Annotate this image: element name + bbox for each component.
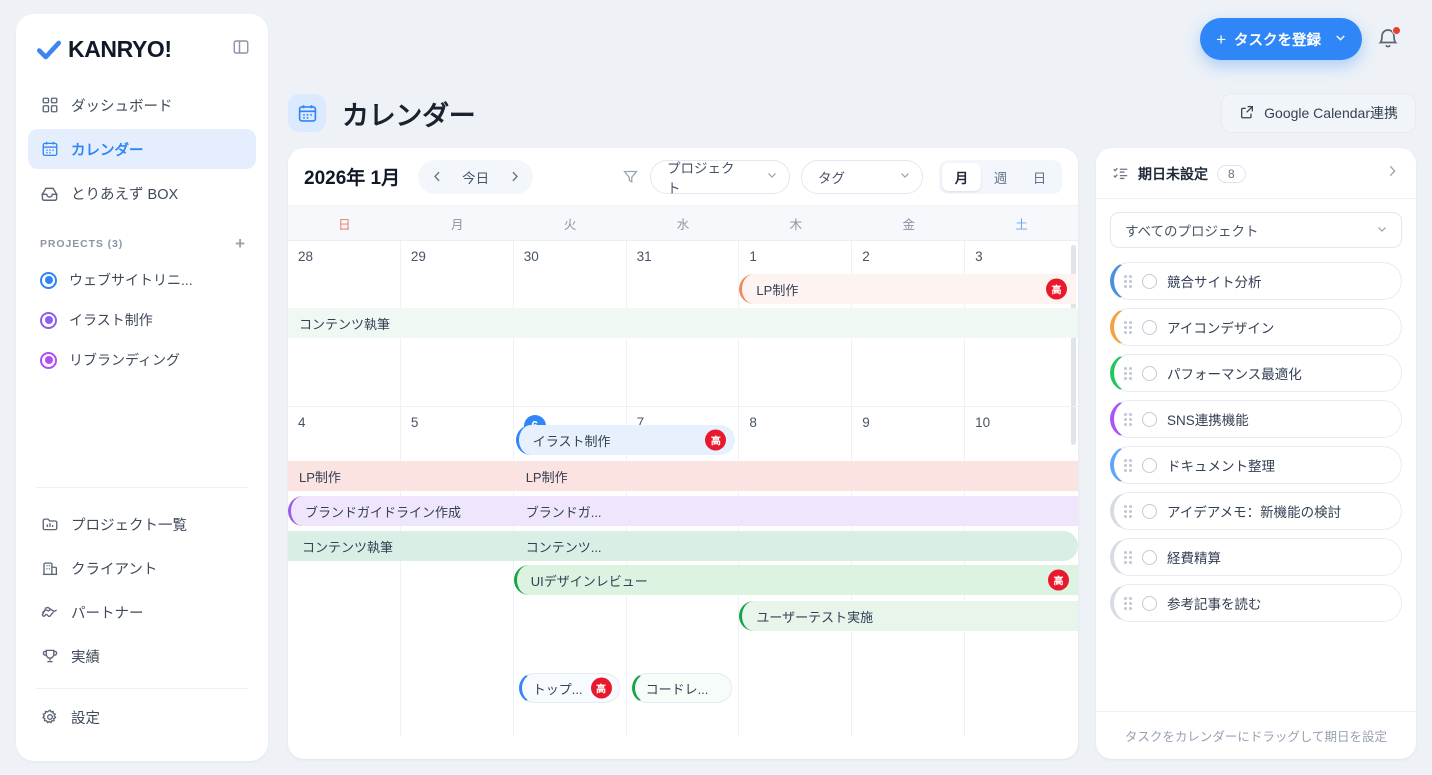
checkbox-circle-icon[interactable] (1142, 412, 1157, 427)
building-icon (40, 559, 59, 578)
list-item[interactable]: SNS連携機能 (1110, 400, 1402, 438)
pill-title: コードレ... (646, 679, 709, 698)
day-cell[interactable] (288, 407, 401, 737)
sidebar-item-dashboard[interactable]: ダッシュボード (28, 85, 256, 125)
calendar-nav-group: 今日 (418, 160, 533, 194)
calendar-icon (40, 140, 59, 159)
list-item[interactable]: 競合サイト分析 (1110, 262, 1402, 300)
event-title-repeat: ブランドガ... (526, 496, 602, 526)
sidebar-item-label: とりあえず BOX (71, 183, 178, 204)
weekday-thu: 木 (739, 206, 852, 240)
calendar-icon (288, 94, 326, 132)
content-area: 2026年 1月 今日 (268, 148, 1432, 775)
calendar-event-contents-shippitsu: コンテンツ執筆 (288, 308, 1078, 338)
sidebar-nav-primary: ダッシュボード カレンダー (16, 73, 268, 217)
sidebar-collapse-icon[interactable] (232, 38, 250, 56)
day-cell[interactable] (401, 407, 514, 737)
chevron-left-icon[interactable] (422, 162, 452, 192)
checkbox-circle-icon[interactable] (1142, 550, 1157, 565)
panel-project-select[interactable]: すべてのプロジェクト (1110, 212, 1402, 248)
task-label: パフォーマンス最適化 (1167, 363, 1302, 383)
sidebar-nav-settings: 設定 (16, 689, 268, 761)
view-toggle-month[interactable]: 月 (942, 163, 981, 191)
sidebar-item-partners[interactable]: パートナー (28, 592, 256, 632)
calendar-event-user-test: ユーザーテスト実施 (739, 601, 1078, 631)
drag-handle-icon[interactable] (1124, 275, 1132, 287)
calendar-grid: 28 29 30 31 1 2 3 LP制作 高 (288, 241, 1078, 759)
add-task-button[interactable]: + タスクを登録 (1200, 18, 1362, 60)
priority-badge: 高 (1046, 279, 1067, 300)
event-title-repeat: LP制作 (526, 461, 568, 491)
list-item[interactable]: パフォーマンス最適化 (1110, 354, 1402, 392)
sidebar-spacer (16, 380, 268, 487)
external-link-icon (1239, 104, 1255, 123)
project-color-dot-icon (40, 352, 57, 369)
add-project-button[interactable]: + (235, 235, 246, 252)
plus-icon: + (1216, 31, 1226, 48)
drag-handle-icon[interactable] (1124, 321, 1132, 333)
task-label: アイデアメモ：新機能の検討 (1167, 501, 1341, 521)
today-button[interactable]: 今日 (452, 167, 499, 187)
folder-chart-icon (40, 515, 59, 534)
project-list: ウェブサイトリニ... イラスト制作 リブランディング (16, 260, 268, 380)
event-title: LP制作 (288, 467, 341, 486)
sidebar: KANRYO! ダッシュボード (16, 14, 268, 761)
page-header: カレンダー Google Calendar連携 (268, 78, 1432, 148)
list-item[interactable]: 経費精算 (1110, 538, 1402, 576)
projects-header: PROJECTS (3) + (16, 217, 268, 260)
task-label: アイコンデザイン (1167, 317, 1274, 337)
weekday-wed: 水 (627, 206, 740, 240)
project-item-2[interactable]: リブランディング (28, 340, 256, 380)
chevron-down-icon (1375, 222, 1389, 239)
panel-project-value: すべてのプロジェクト (1125, 220, 1259, 240)
chevron-down-icon[interactable] (1333, 30, 1348, 49)
calendar-toolbar-right: プロジェクト タグ 月 (622, 160, 1062, 194)
page-title-group: カレンダー (268, 94, 476, 133)
calendar-toolbar: 2026年 1月 今日 (288, 148, 1078, 206)
tag-filter-select[interactable]: タグ (801, 160, 923, 194)
calendar-event-illust-seisaku: イラスト制作 高 (516, 425, 736, 455)
weekday-tue: 火 (514, 206, 627, 240)
calendar-week-row: 4 5 6 7 8 9 10 イラスト制作 高 (288, 407, 1078, 737)
sidebar-item-settings[interactable]: 設定 (28, 697, 256, 737)
panel-footer-hint: タスクをカレンダーにドラッグして期日を設定 (1096, 711, 1416, 759)
unscheduled-tasks-panel: 期日未設定 8 すべてのプロジェクト (1096, 148, 1416, 759)
chevron-down-icon (898, 168, 912, 185)
weekday-header: 日 月 火 水 木 金 土 (288, 206, 1078, 241)
sidebar-item-projects[interactable]: プロジェクト一覧 (28, 504, 256, 544)
list-item[interactable]: ドキュメント整理 (1110, 446, 1402, 484)
event-band-spacer (514, 461, 1078, 491)
trophy-icon (40, 647, 59, 666)
sidebar-item-label: 実績 (71, 646, 100, 667)
sidebar-item-label: パートナー (71, 602, 144, 623)
sidebar-item-label: ダッシュボード (71, 95, 173, 116)
brand: KANRYO! (16, 14, 268, 73)
event-title: コンテンツ執筆 (288, 314, 390, 333)
add-task-label: タスクを登録 (1234, 29, 1321, 50)
projects-header-label: PROJECTS (3) (40, 238, 123, 250)
google-calendar-link-label: Google Calendar連携 (1264, 103, 1398, 123)
checkbox-circle-icon[interactable] (1142, 274, 1157, 289)
list-item[interactable]: アイデアメモ：新機能の検討 (1110, 492, 1402, 530)
calendar-pill-code-review: コードレ... (632, 673, 733, 703)
sidebar-nav-secondary: プロジェクト一覧 クライアント (16, 488, 268, 688)
project-label: イラスト制作 (69, 310, 153, 330)
drag-handle-icon[interactable] (1124, 413, 1132, 425)
notification-badge-dot (1392, 26, 1401, 35)
calendar-event-lp-seisaku: LP制作 高 (739, 274, 1076, 304)
filter-icon[interactable] (622, 168, 639, 185)
sidebar-item-label: プロジェクト一覧 (71, 514, 187, 535)
topbar: + タスクを登録 (268, 0, 1432, 78)
task-label: ドキュメント整理 (1167, 455, 1275, 475)
task-label: 経費精算 (1167, 547, 1221, 567)
list-item[interactable]: 参考記事を読む (1110, 584, 1402, 622)
task-label: SNS連携機能 (1167, 409, 1249, 429)
weekday-fri: 金 (852, 206, 965, 240)
list-item[interactable]: アイコンデザイン (1110, 308, 1402, 346)
dashboard-grid-icon (40, 96, 59, 115)
drag-handle-icon[interactable] (1124, 505, 1132, 517)
inbox-icon (40, 184, 59, 203)
chevron-right-icon[interactable] (1384, 163, 1400, 184)
drag-handle-icon[interactable] (1124, 459, 1132, 471)
tag-filter-value: タグ (818, 167, 845, 187)
unscheduled-task-list: 競合サイト分析 アイコンデザイン パフォーマンス最適化 (1096, 260, 1416, 711)
chevron-down-icon (765, 168, 779, 185)
project-filter-select[interactable]: プロジェクト (650, 160, 790, 194)
view-toggle-group: 月 週 日 (939, 160, 1062, 194)
task-label: 参考記事を読む (1167, 593, 1262, 613)
event-title: ユーザーテスト実施 (742, 607, 873, 626)
sidebar-item-label: カレンダー (71, 139, 144, 160)
check-icon (36, 37, 62, 63)
app-root: KANRYO! ダッシュボード (0, 0, 1432, 775)
sidebar-item-label: クライアント (71, 558, 157, 579)
notifications-button[interactable] (1376, 26, 1402, 52)
calendar-card: 2026年 1月 今日 (288, 148, 1078, 759)
checkbox-circle-icon[interactable] (1142, 458, 1157, 473)
calendar-month-label: 2026年 1月 (304, 163, 400, 190)
project-item-1[interactable]: イラスト制作 (28, 300, 256, 340)
weekday-sat: 土 (965, 206, 1078, 240)
event-title: UIデザインレビュー (517, 571, 648, 590)
event-title: LP制作 (742, 280, 798, 299)
event-title: イラスト制作 (519, 431, 611, 450)
gear-icon (40, 708, 59, 727)
priority-badge: 高 (1048, 570, 1069, 591)
sidebar-item-calendar[interactable]: カレンダー (28, 129, 256, 169)
event-title: コンテンツ執筆 (288, 537, 393, 556)
calendar-pill-top: トップ... 高 (519, 673, 620, 703)
google-calendar-link-button[interactable]: Google Calendar連携 (1221, 93, 1416, 133)
chevron-right-icon[interactable] (499, 162, 529, 192)
brand-name: KANRYO! (68, 36, 172, 63)
project-color-dot-icon (40, 272, 57, 289)
drag-handle-icon[interactable] (1124, 551, 1132, 563)
checkbox-circle-icon[interactable] (1142, 596, 1157, 611)
sidebar-item-inbox[interactable]: とりあえず BOX (28, 173, 256, 213)
page-header-actions: Google Calendar連携 (1221, 93, 1416, 133)
pill-title: トップ... (533, 679, 583, 698)
panel-title: 期日未設定 (1138, 164, 1208, 184)
view-toggle-week[interactable]: 週 (981, 163, 1020, 191)
priority-badge: 高 (705, 430, 726, 451)
priority-badge: 高 (591, 678, 612, 699)
project-label: リブランディング (69, 350, 180, 370)
weekday-mon: 月 (401, 206, 514, 240)
task-label: 競合サイト分析 (1167, 271, 1262, 291)
panel-header: 期日未設定 8 (1096, 148, 1416, 199)
sidebar-item-achievements[interactable]: 実績 (28, 636, 256, 676)
checkbox-circle-icon[interactable] (1142, 366, 1157, 381)
event-title-repeat: コンテンツ... (526, 531, 602, 561)
sidebar-item-clients[interactable]: クライアント (28, 548, 256, 588)
calendar-event-ui-design-review: UIデザインレビュー 高 (514, 565, 1078, 595)
panel-project-filter: すべてのプロジェクト (1096, 199, 1416, 260)
drag-handle-icon[interactable] (1124, 367, 1132, 379)
project-color-dot-icon (40, 312, 57, 329)
calendar-event-contents-shippitsu-cont: コンテンツ執筆 (288, 531, 1078, 561)
project-item-0[interactable]: ウェブサイトリニ... (28, 260, 256, 300)
drag-handle-icon[interactable] (1124, 597, 1132, 609)
checkbox-circle-icon[interactable] (1142, 504, 1157, 519)
panel-count-badge: 8 (1217, 165, 1246, 183)
sidebar-item-label: 設定 (71, 707, 100, 728)
project-label: ウェブサイトリニ... (69, 270, 193, 290)
calendar-week-row: 28 29 30 31 1 2 3 LP制作 高 (288, 241, 1078, 407)
calendar-event-brand-guideline: ブランドガイドライン作成 (288, 496, 1078, 526)
main-area: + タスクを登録 (268, 0, 1432, 775)
page-title: カレンダー (342, 94, 476, 133)
task-list-icon (1112, 165, 1129, 182)
event-title: ブランドガイドライン作成 (291, 502, 461, 521)
view-toggle-day[interactable]: 日 (1020, 163, 1059, 191)
weekday-sun: 日 (288, 206, 401, 240)
handshake-icon (40, 603, 59, 622)
checkbox-circle-icon[interactable] (1142, 320, 1157, 335)
project-filter-value: プロジェクト (667, 157, 743, 197)
